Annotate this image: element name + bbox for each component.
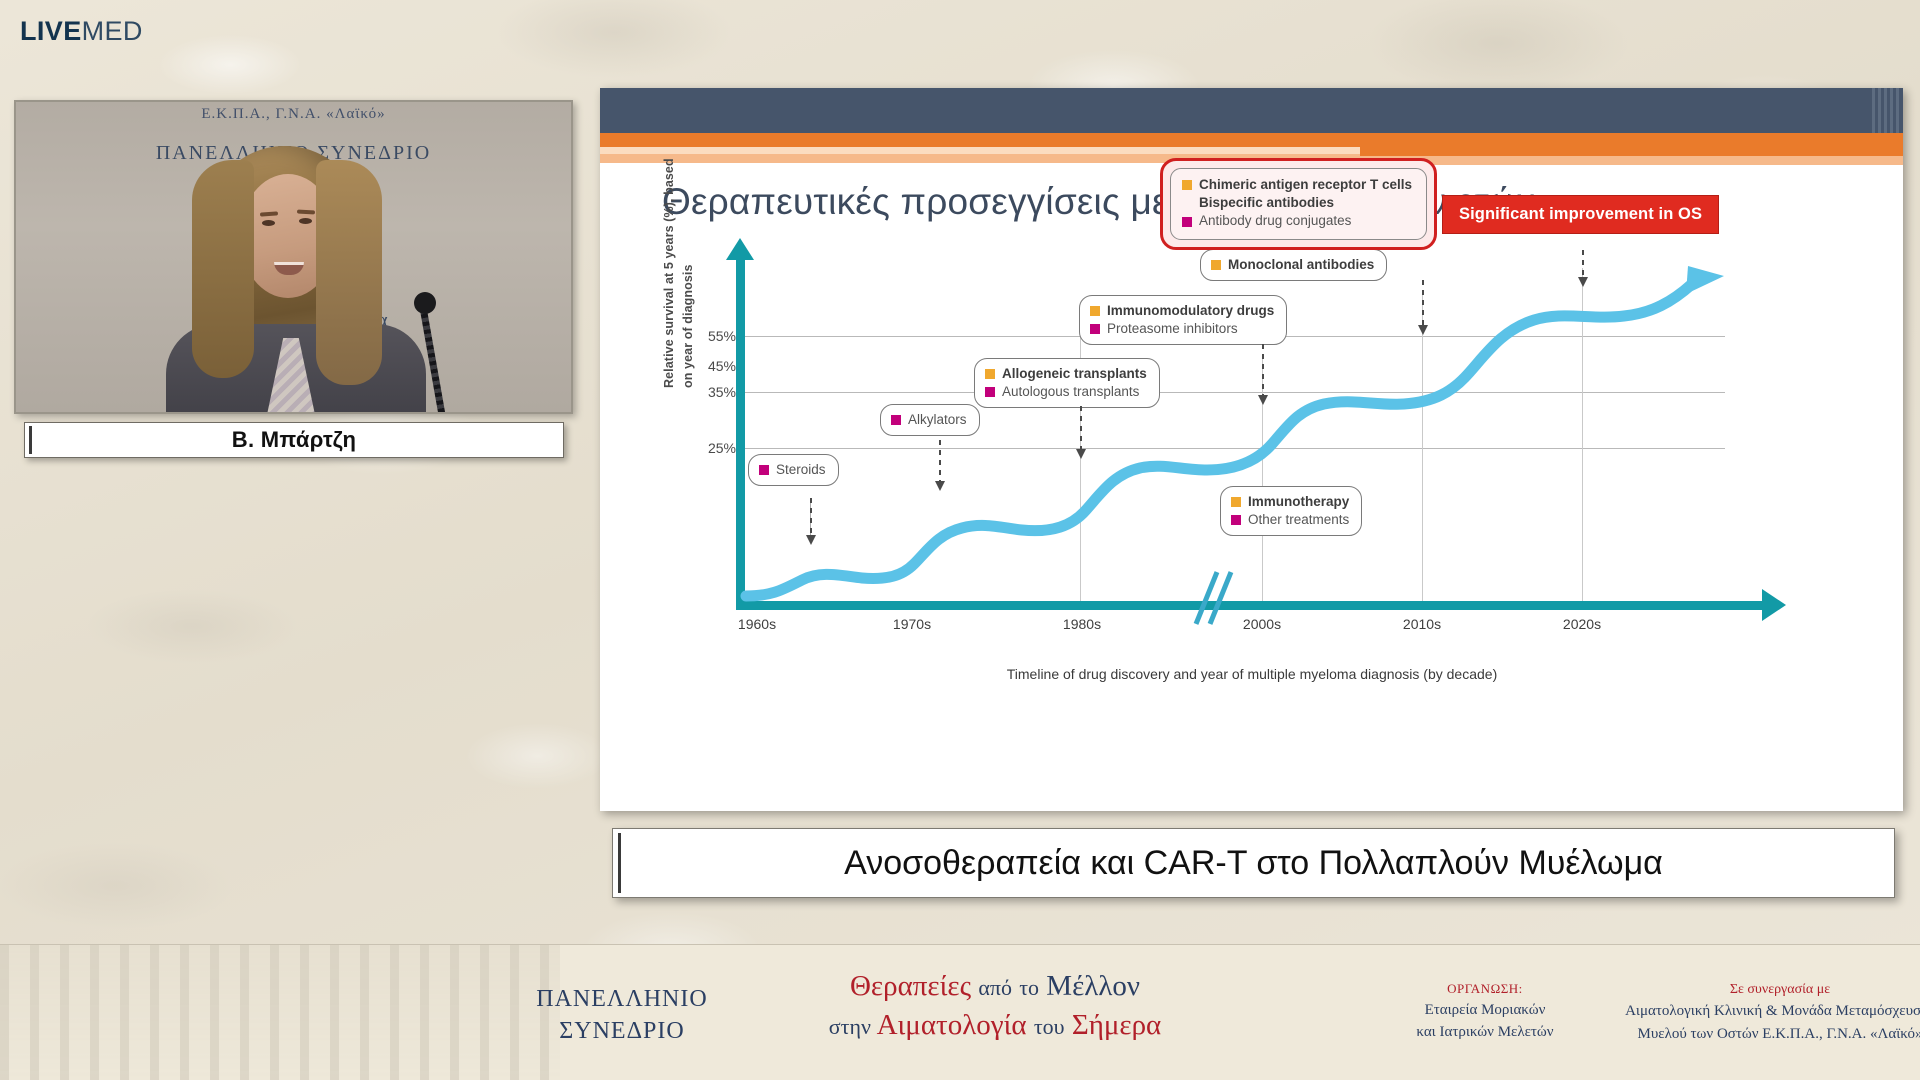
speaker-video[interactable]: Ε.Κ.Π.Α., Γ.Ν.Α. «Λαϊκό» ΠΑΝΕΛΛΗΝΙΟ ΣΥΝΕ… [14,100,573,414]
swatch-magenta-icon [1090,324,1100,334]
callout-row: Other treatments [1231,511,1349,529]
swatch-orange-icon [1211,260,1221,270]
arrow-monoclonal-icon [1422,280,1424,326]
footer: ΠΑΝΕΛΛΗΝΙΟ ΣΥΝΕΔΡΙΟ Θεραπείες από το Μέλ… [0,944,1920,1080]
callout-row: Proteasome inhibitors [1090,320,1274,338]
footer-cooperation: Σε συνεργασία με Αιματολογική Κλινική & … [1530,979,1920,1045]
x-axis [736,601,1766,610]
callout-row: Chimeric antigen receptor T cells [1182,176,1412,194]
slide-header-stripes [1843,88,1903,133]
footer-event-line1: Θεραπείες από το Μέλλον [760,967,1230,1006]
callout-label: Other treatments [1248,511,1349,529]
footer-building-graphic [0,945,560,1080]
footer-hematology: Αιματολογία [877,1009,1027,1041]
footer-of: του [1034,1014,1065,1039]
callout-label: Alkylators [908,411,967,429]
presenter-eye-left [262,220,275,226]
footer-therapies: Θεραπείες [850,970,971,1002]
callout-transplants[interactable]: Allogeneic transplants Autologous transp… [974,358,1160,408]
ytick-35: 35% [684,384,736,400]
footer-in: στην [829,1014,871,1039]
swatch-orange-icon [1182,180,1192,190]
logo-med-text: MED [82,16,143,46]
xtick-2020s: 2020s [1547,616,1617,632]
callout-label: Steroids [776,461,826,479]
callout-label: Proteasome inhibitors [1107,320,1238,338]
gridline-35 [745,392,1725,393]
swatch-magenta-icon [759,465,769,475]
swatch-magenta-icon [1182,217,1192,227]
callout-label: Chimeric antigen receptor T cells [1199,176,1412,194]
callout-row: Bispecific antibodies [1182,194,1412,212]
y-axis-arrow-icon [726,238,754,260]
callout-label: Allogeneic transplants [1002,365,1147,383]
slide-accent-orange [600,133,1903,147]
x-axis-arrow-icon [1762,589,1786,621]
callout-immunotherapy[interactable]: Immunotherapy Other treatments [1220,486,1362,536]
y-axis-label: Relative survival at 5 years (%), based … [660,158,698,388]
slide-accent-orange-right [1360,147,1903,156]
livemed-logo: LIVEMED [20,16,143,47]
ytick-55: 55% [684,328,736,344]
slide-header-band [600,88,1903,133]
arrow-car-t-icon [1582,250,1584,278]
callout-label: Antibody drug conjugates [1199,212,1351,230]
xtick-1980s: 1980s [1047,616,1117,632]
vline-2010s [1422,294,1423,606]
footer-event-title: Θεραπείες από το Μέλλον στην Αιματολογία… [760,967,1230,1045]
callout-row: Allogeneic transplants [985,365,1147,383]
slide-accent-light-right [1360,156,1903,165]
footer-cooperation-line2: Μυελού των Οστών Ε.Κ.Π.Α., Γ.Ν.Α. «Λαϊκό… [1530,1023,1920,1046]
swatch-orange-icon [985,369,995,379]
presenter-hair-left [192,160,254,378]
xtick-2010s: 2010s [1387,616,1457,632]
swatch-magenta-icon [985,387,995,397]
callout-label: Immunomodulatory drugs [1107,302,1274,320]
session-title-bar: Ανοσοθεραπεία και CAR-T στο Πολλαπλούν Μ… [612,828,1895,898]
backdrop-line-0: Ε.Κ.Π.Α., Γ.Ν.Α. «Λαϊκό» [16,106,571,123]
xtick-1970s: 1970s [877,616,947,632]
logo-live-text: LIVE [20,16,82,46]
callout-row: Monoclonal antibodies [1211,256,1374,274]
ytick-45: 45% [684,358,736,374]
callout-row: Antibody drug conjugates [1182,212,1412,230]
footer-congress-line2: ΣΥΝΕΔΡΙΟ [532,1015,712,1047]
footer-cooperation-header: Σε συνεργασία με [1530,979,1920,1000]
xtick-1960s: 1960s [722,616,792,632]
callout-car-t-highlighted[interactable]: Chimeric antigen receptor T cells Bispec… [1160,158,1437,250]
gridline-25 [745,448,1725,449]
callout-row: Alkylators [891,411,967,429]
presenter-hair-right [316,160,382,385]
footer-today: Σήμερα [1072,1009,1161,1041]
callout-row: Immunomodulatory drugs [1090,302,1274,320]
footer-future: Μέλλον [1046,970,1140,1002]
ytick-25: 25% [684,440,736,456]
callout-row: Immunotherapy [1231,493,1349,511]
callout-alkylators[interactable]: Alkylators [880,404,980,436]
callout-car-t-inner: Chimeric antigen receptor T cells Bispec… [1170,168,1427,240]
xtick-2000s: 2000s [1227,616,1297,632]
speaker-nameplate: Β. Μπάρτζη [24,422,564,458]
arrow-alkylators-icon [939,440,941,482]
footer-congress-label: ΠΑΝΕΛΛΗΝΙΟ ΣΥΝΕΔΡΙΟ [532,983,712,1048]
survival-timeline-figure: Relative survival at 5 years (%), based … [662,258,1842,788]
arrow-steroids-icon [810,498,812,536]
callout-row: Steroids [759,461,826,479]
presenter-eye-right [299,218,312,224]
status-badge-os: Significant improvement in OS [1442,195,1719,234]
footer-the: το [1019,975,1039,1000]
callout-monoclonal[interactable]: Monoclonal antibodies [1200,249,1387,281]
callout-label: Autologous transplants [1002,383,1139,401]
swatch-magenta-icon [1231,515,1241,525]
slide-accent-light-a [600,147,1360,154]
presentation-slide[interactable]: Θεραπευτικές προσεγγίσεις με την πάροδο … [600,88,1903,811]
swatch-magenta-icon [891,415,901,425]
vline-2020s [1582,268,1583,606]
y-axis [736,258,745,608]
swatch-orange-icon [1231,497,1241,507]
footer-congress-line1: ΠΑΝΕΛΛΗΝΙΟ [532,983,712,1015]
callout-novel-agents[interactable]: Immunomodulatory drugs Proteasome inhibi… [1079,295,1287,345]
x-axis-caption: Timeline of drug discovery and year of m… [662,666,1842,682]
arrow-transplants-icon [1080,406,1082,450]
footer-cooperation-line1: Αιματολογική Κλινική & Μονάδα Μεταμόσχευ… [1530,1000,1920,1023]
session-title: Ανοσοθεραπεία και CAR-T στο Πολλαπλούν Μ… [844,844,1663,883]
callout-row: Autologous transplants [985,383,1147,401]
speaker-name: Β. Μπάρτζη [232,427,356,453]
footer-event-line2: στην Αιματολογία του Σήμερα [760,1006,1230,1045]
presenter-brow-right [297,210,315,215]
callout-label: Bispecific antibodies [1199,194,1334,212]
footer-from: από [978,975,1012,1000]
callout-label: Monoclonal antibodies [1228,256,1374,274]
callout-label: Immunotherapy [1248,493,1349,511]
callout-steroids[interactable]: Steroids [748,454,839,486]
microphone-icon [414,292,436,314]
swatch-orange-icon [1090,306,1100,316]
arrow-novel-agents-icon [1262,344,1264,396]
